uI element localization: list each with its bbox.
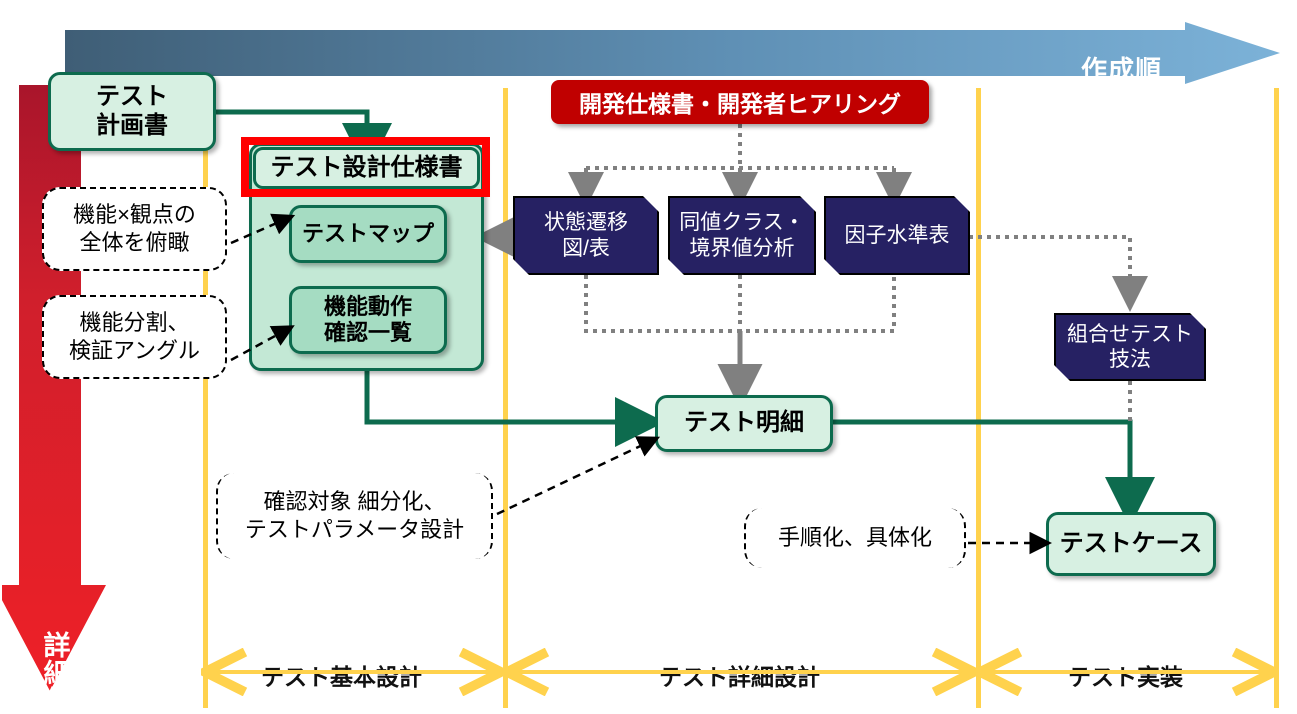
function-check-list-line2: 確認一覧	[324, 320, 412, 346]
technique-factor-level-table-text: 因子水準表	[824, 196, 970, 275]
technique-state-transition-line1: 状態遷移	[544, 210, 628, 235]
test-plan-line2: 計画書	[96, 112, 168, 140]
test-map-box[interactable]: テストマップ	[289, 205, 447, 263]
technique-combination-test-text: 組合せテスト 技法	[1054, 313, 1206, 381]
test-detail-box[interactable]: テスト明細	[655, 395, 833, 452]
technique-factor-level-table-line1: 因子水準表	[845, 223, 950, 248]
callout-overview: 機能×観点の 全体を俯瞰	[42, 187, 227, 271]
creation-order-label: 作成順	[1081, 50, 1162, 87]
phase-divider-2	[503, 88, 508, 708]
callout-procedure: 手順化、具体化	[744, 508, 966, 568]
technique-equivalence-boundary-text: 同値クラス・ 境界値分析	[668, 196, 816, 275]
technique-equivalence-boundary-box[interactable]: 同値クラス・ 境界値分析	[668, 196, 816, 275]
test-plan-box[interactable]: テスト 計画書	[48, 72, 216, 151]
phase-label-detail-design: テスト詳細設計	[653, 658, 826, 692]
technique-combination-test-box[interactable]: 組合せテスト 技法	[1054, 313, 1206, 381]
callout-split-line2: 検証アングル	[69, 337, 200, 365]
callout-split-line1: 機能分割、	[79, 309, 189, 337]
phase-divider-1	[203, 88, 208, 708]
function-check-list-box[interactable]: 機能動作 確認一覧	[289, 286, 447, 354]
detailing-label: 詳細化	[39, 633, 75, 714]
phase-label-basic-design: テスト基本設計	[255, 658, 428, 692]
detailing-arrow: 詳細化	[2, 85, 106, 691]
design-spec-highlight	[241, 137, 490, 197]
technique-combination-test-line1: 組合せテスト	[1067, 322, 1193, 347]
callout-subdivision-line2: テストパラメータ設計	[245, 516, 464, 544]
technique-state-transition-line2: 図/表	[544, 236, 628, 261]
technique-state-transition-box[interactable]: 状態遷移 図/表	[513, 196, 659, 275]
phase-divider-4	[1274, 88, 1279, 708]
callout-subdivision-line1: 確認対象 細分化、	[263, 488, 445, 516]
creation-order-banner: 作成順	[65, 22, 1280, 84]
technique-equivalence-boundary-line2: 境界値分析	[679, 236, 805, 261]
technique-equivalence-boundary-line1: 同値クラス・	[679, 210, 805, 235]
test-plan-line1: テスト	[96, 83, 168, 111]
phase-divider-3	[976, 88, 981, 708]
technique-state-transition-text: 状態遷移 図/表	[513, 196, 659, 275]
dev-spec-banner[interactable]: 開発仕様書・開発者ヒアリング	[551, 80, 929, 124]
technique-factor-level-table-box[interactable]: 因子水準表	[824, 196, 970, 275]
callout-overview-line1: 機能×観点の	[73, 201, 196, 229]
callout-split: 機能分割、 検証アングル	[42, 295, 227, 379]
technique-combination-test-line2: 技法	[1067, 347, 1193, 372]
test-case-box[interactable]: テストケース	[1046, 512, 1216, 576]
function-check-list-line1: 機能動作	[324, 294, 412, 320]
phase-label-implementation: テスト実装	[1062, 658, 1189, 692]
diagram-canvas: 作成順 詳細化	[0, 0, 1297, 714]
callout-subdivision: 確認対象 細分化、 テストパラメータ設計	[216, 473, 493, 559]
callout-overview-line2: 全体を俯瞰	[79, 229, 189, 257]
